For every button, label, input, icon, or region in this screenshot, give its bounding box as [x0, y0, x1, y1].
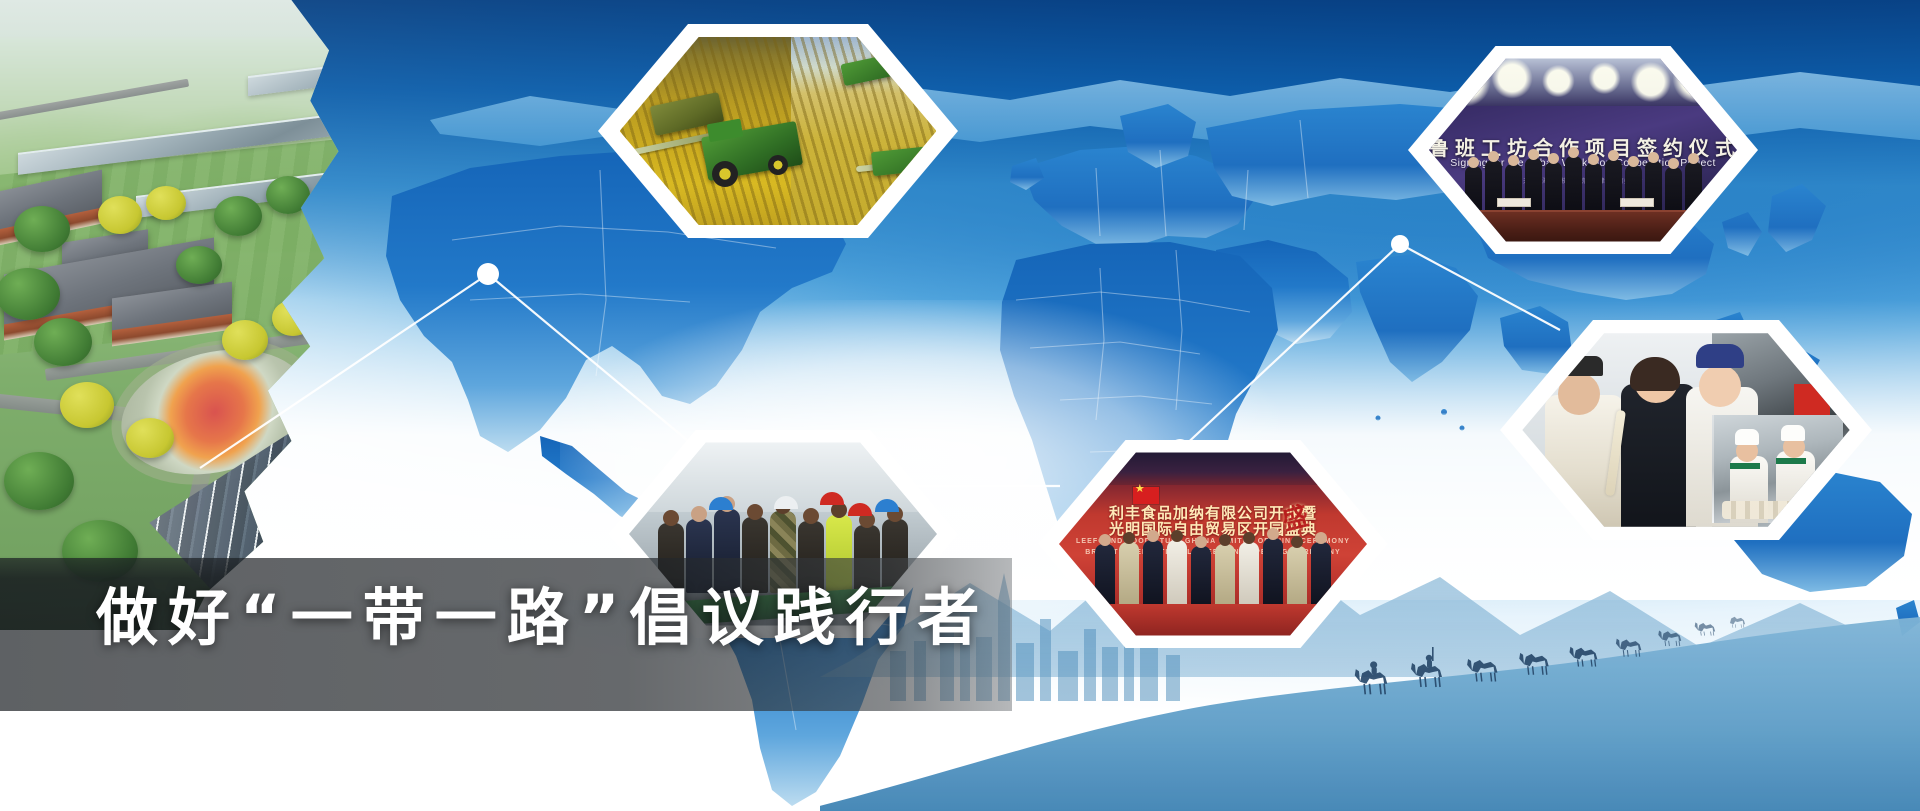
chef-toque-icon: [1735, 429, 1759, 445]
campus-tree: [214, 196, 262, 236]
signing-document: [1497, 198, 1531, 207]
chef-toque-icon: [1555, 356, 1603, 376]
hex-photo-culinary-inner: [1522, 333, 1849, 527]
ceremony-attendees: [1059, 529, 1367, 606]
hex-photo-agriculture-inner: [620, 37, 937, 225]
trainee-center: [1621, 384, 1696, 527]
chef-toque-icon: [1781, 425, 1805, 441]
campus-tree: [60, 382, 114, 428]
page-title: 做好“一带一路”倡议践行者: [96, 576, 990, 660]
campus-tree: [126, 418, 174, 458]
hex-photo-leefound-inner: 利丰食品加纳有限公司开业暨 光明国际自由贸易区开园盛典 LEEFOUND FOO…: [1059, 452, 1367, 635]
campus-tree: [34, 318, 92, 366]
luban-delegates: [1429, 157, 1737, 212]
signing-table: [1441, 210, 1724, 241]
campus-tree: [176, 246, 222, 284]
campus-tree: [146, 186, 186, 220]
campus-tree: [4, 452, 74, 510]
signing-document: [1620, 198, 1654, 207]
harvester-wheel: [712, 161, 738, 187]
harvester-wheel: [768, 155, 788, 175]
campus-tree: [14, 206, 70, 252]
inset-chef-1-collar: [1730, 463, 1760, 469]
chef-instructor-head: [1558, 373, 1600, 415]
chef-cap-blue-icon: [1696, 344, 1744, 368]
hex-photo-luban-inner: 鲁班工坊合作项目签约仪式 Signing for the Luban Works…: [1429, 58, 1737, 241]
campus-tree: [222, 320, 268, 360]
campus-tree: [98, 196, 142, 234]
banner-stage: 鲁班工坊合作项目签约仪式 Signing for the Luban Works…: [0, 0, 1920, 811]
inset-chef-2-collar: [1776, 458, 1806, 464]
trainee-right-head: [1699, 365, 1741, 407]
